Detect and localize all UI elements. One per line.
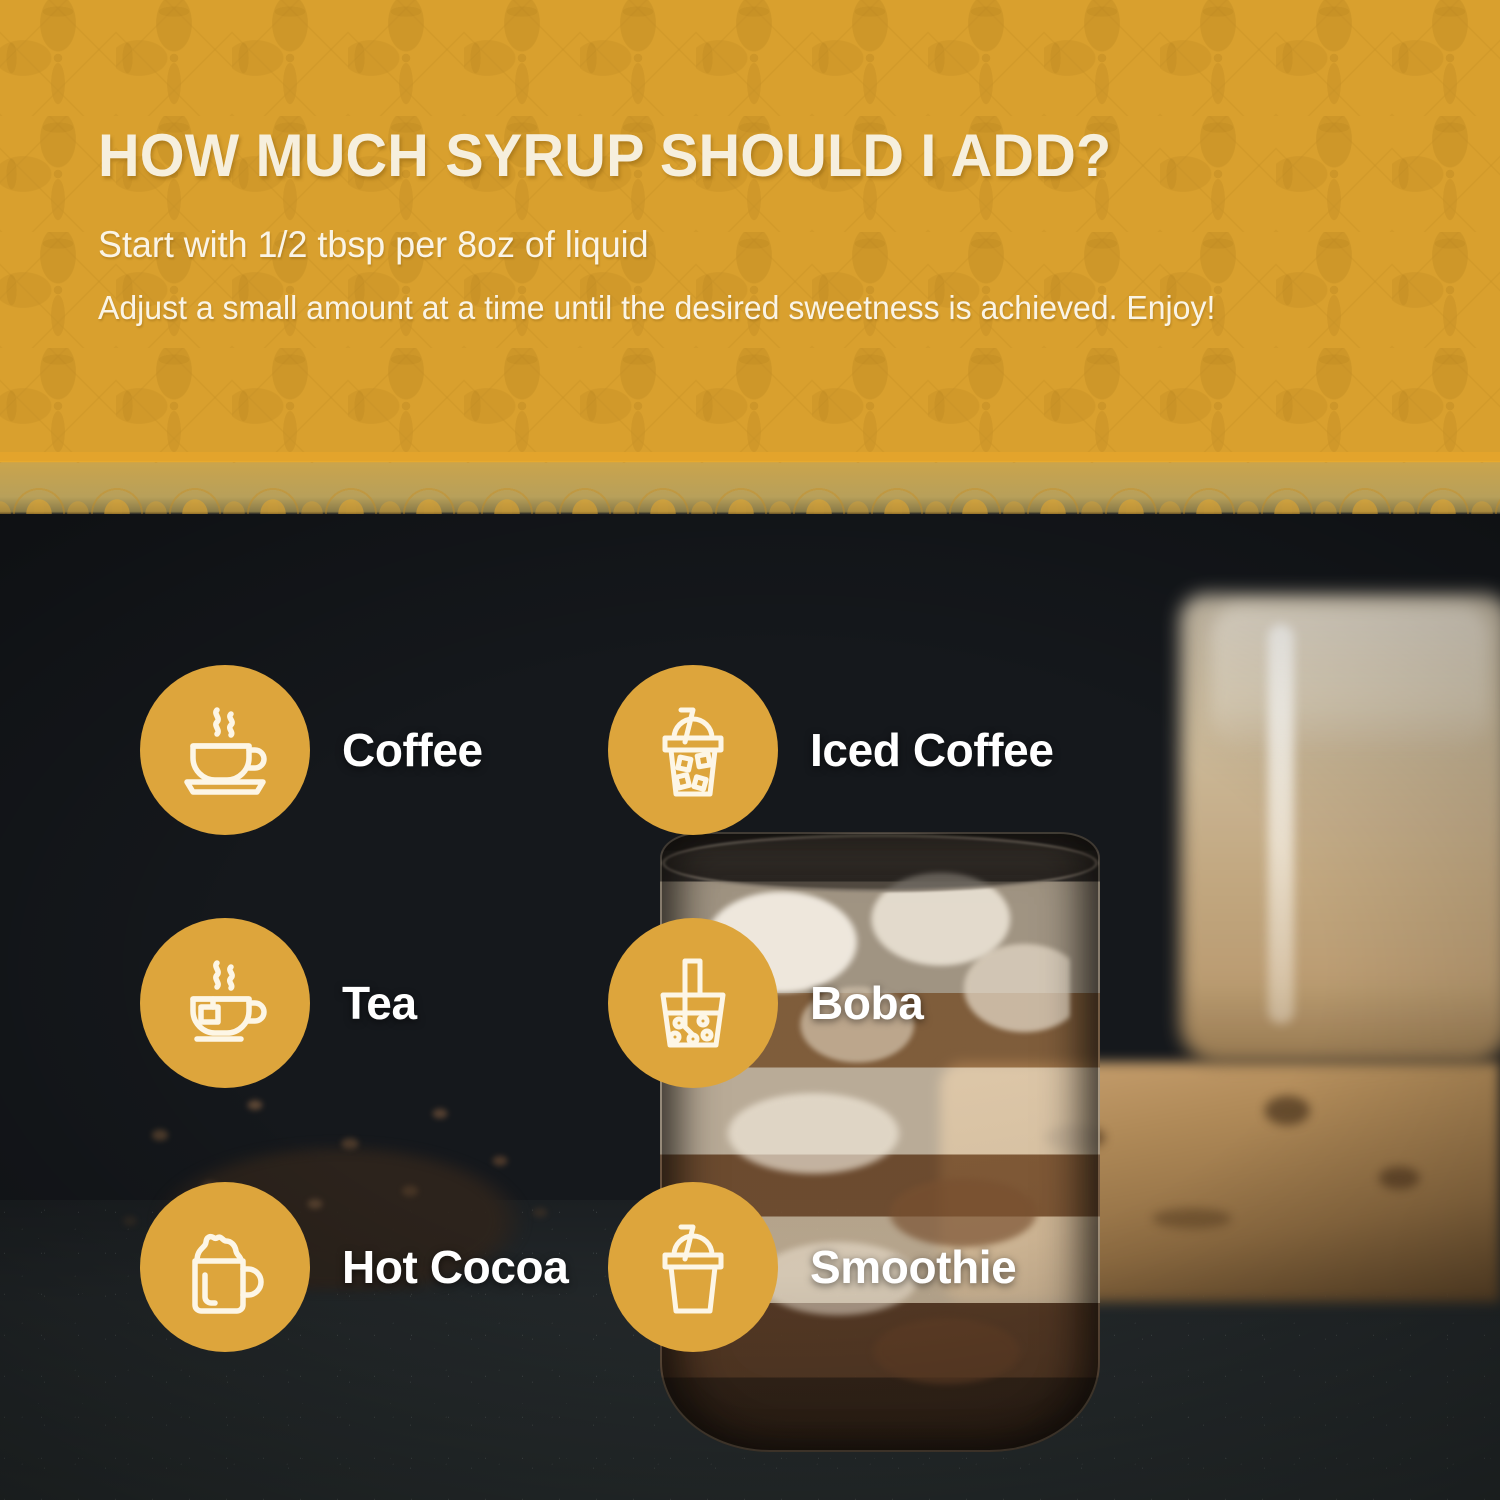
coffee-cup-icon (140, 665, 310, 835)
tea-cup-icon (140, 918, 310, 1088)
drink-label: Iced Coffee (810, 723, 1054, 777)
drink-item-tea[interactable]: Tea (140, 918, 417, 1088)
drink-item-iced-coffee[interactable]: Iced Coffee (608, 665, 1054, 835)
drink-label: Boba (810, 976, 923, 1030)
drink-label: Coffee (342, 723, 483, 777)
drink-item-boba[interactable]: Boba (608, 918, 923, 1088)
drink-item-coffee[interactable]: Coffee (140, 665, 483, 835)
drink-item-hot-cocoa[interactable]: Hot Cocoa (140, 1182, 568, 1352)
drink-item-smoothie[interactable]: Smoothie (608, 1182, 1016, 1352)
hot-cocoa-mug-icon (140, 1182, 310, 1352)
drink-label: Smoothie (810, 1240, 1016, 1294)
drink-list: Coffee Iced Coffee (0, 0, 1500, 1500)
boba-cup-icon (608, 918, 778, 1088)
syrup-infographic: HOW MUCH SYRUP SHOULD I ADD? Start with … (0, 0, 1500, 1500)
iced-coffee-cup-icon (608, 665, 778, 835)
drink-label: Hot Cocoa (342, 1240, 568, 1294)
drink-label: Tea (342, 976, 417, 1030)
smoothie-cup-icon (608, 1182, 778, 1352)
